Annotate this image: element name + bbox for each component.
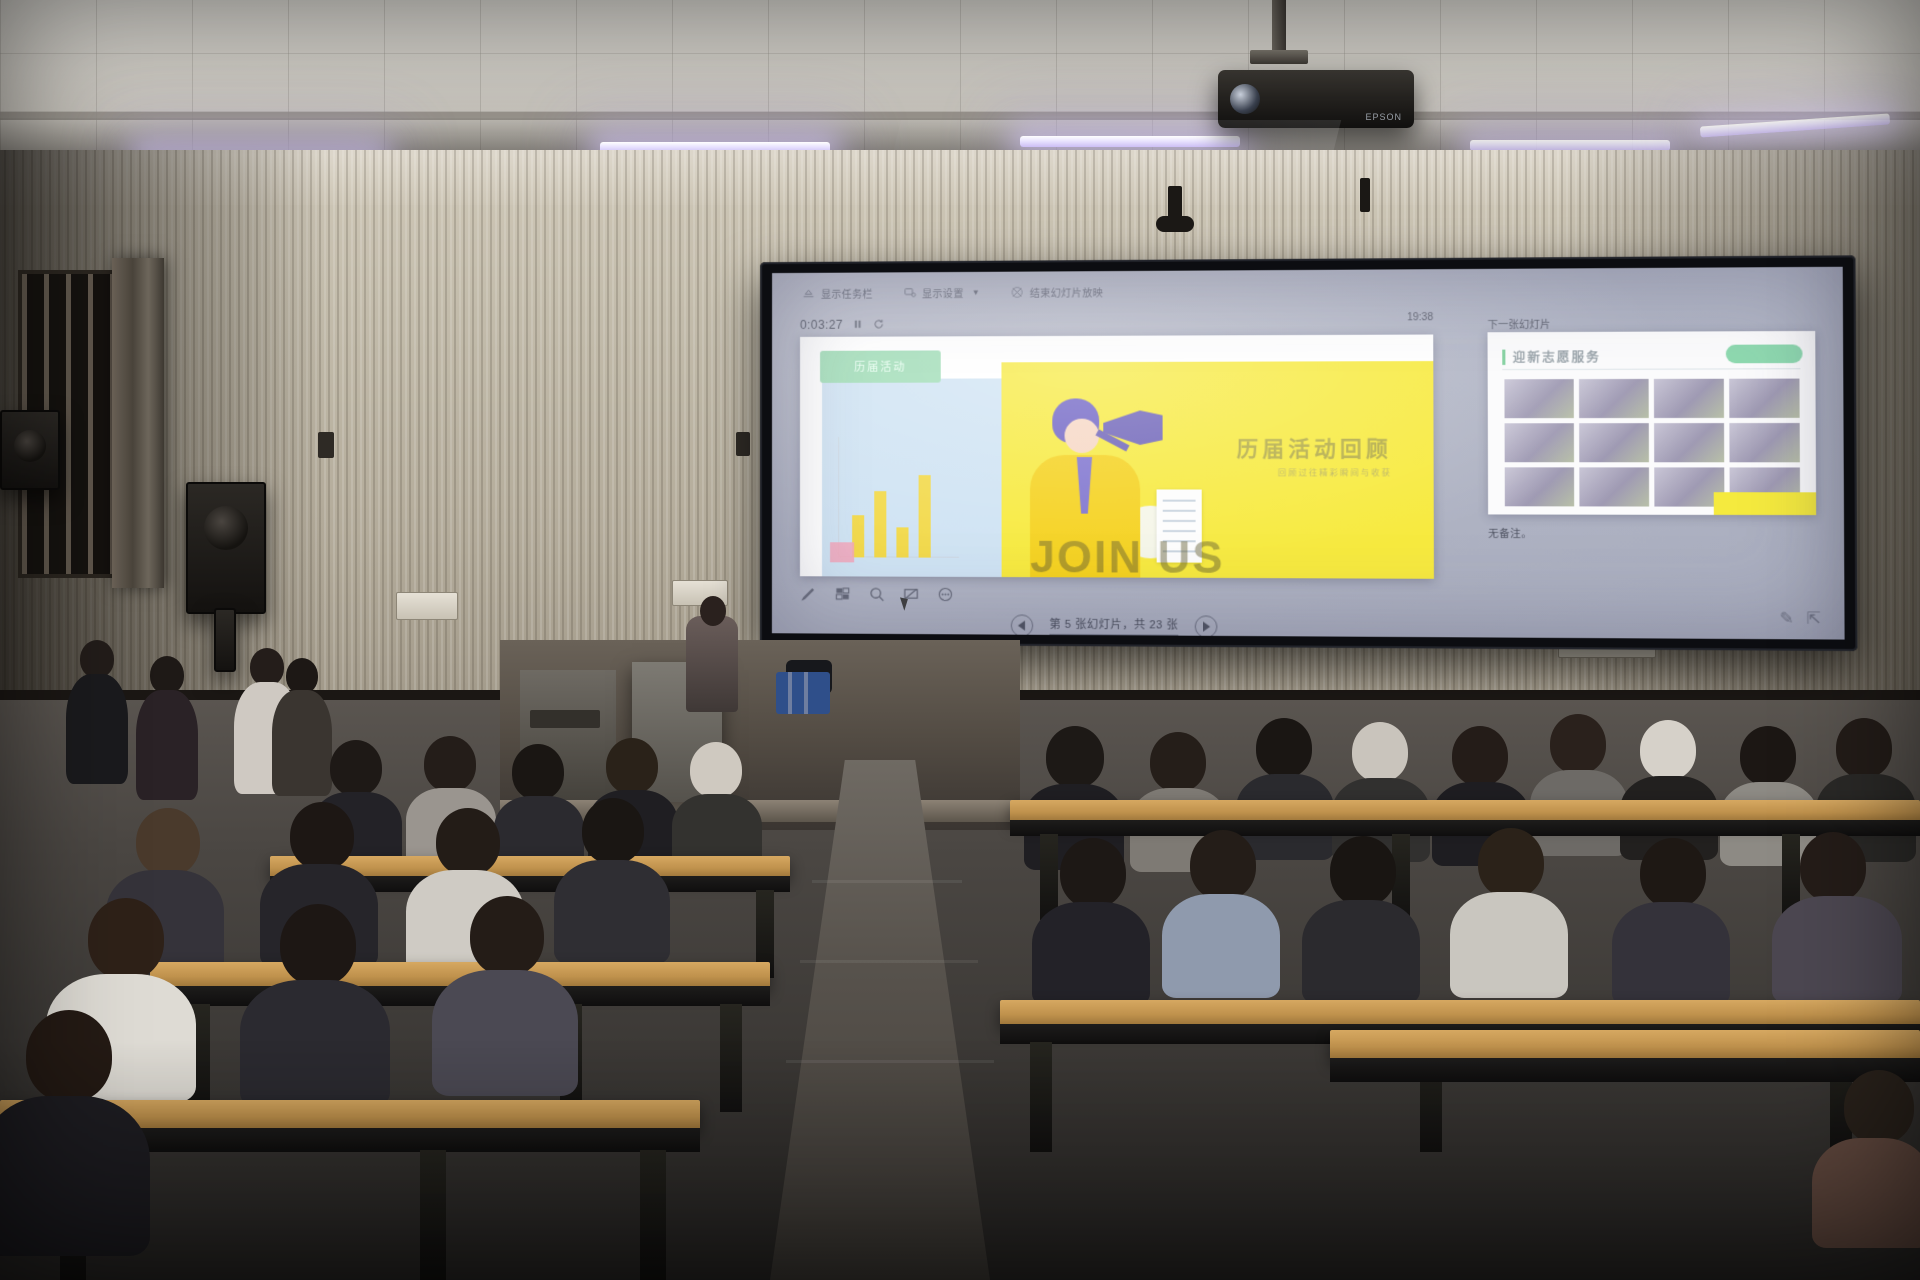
- desk-front: [1330, 1058, 1920, 1082]
- standing-person-head: [286, 658, 318, 694]
- audience-head: [436, 808, 500, 876]
- audience-head: [1478, 828, 1544, 898]
- cabinet-panel: [530, 710, 600, 728]
- audience-head: [424, 736, 476, 792]
- presenter-left-column: 0:03:27 19:38: [800, 312, 1433, 335]
- pause-icon[interactable]: [852, 319, 864, 331]
- next-slide-titlebar: 迎新志愿服务: [1502, 348, 1601, 366]
- doc-line: [1163, 500, 1196, 502]
- audience-body: [554, 860, 670, 964]
- audience-head: [1740, 726, 1796, 786]
- presentation-timer: 0:03:27: [800, 318, 843, 332]
- aisle-step: [800, 960, 978, 963]
- desk-row: [1010, 800, 1920, 822]
- slide-illustration-face: [1065, 419, 1100, 453]
- photo-thumb: [1579, 467, 1649, 506]
- audience-head: [1352, 722, 1408, 782]
- doc-line: [1163, 510, 1196, 512]
- standing-person-head: [250, 648, 284, 686]
- toolbar-end-show[interactable]: 结束幻灯片放映: [1010, 284, 1103, 300]
- audience-head: [1190, 830, 1256, 900]
- wall-clock-time: 19:38: [1407, 312, 1433, 323]
- slide-subtitle: 回顾过往精彩瞬间与收获: [1278, 467, 1392, 478]
- audience-body: [240, 980, 390, 1108]
- pen-icon[interactable]: [800, 585, 817, 602]
- chevron-left-icon: [1018, 621, 1025, 631]
- slide-pink-swatch: [830, 542, 854, 562]
- audience-head: [1256, 718, 1312, 778]
- photo-thumb: [1579, 423, 1649, 462]
- toolbar-display-settings[interactable]: 显示设置 ▼: [903, 284, 980, 299]
- toolbar-display-settings-label: 显示设置: [922, 285, 964, 300]
- next-slide-label: 下一张幻灯片: [1487, 316, 1550, 332]
- next-slide-button[interactable]: [1195, 615, 1218, 637]
- speaker-pole: [214, 608, 236, 672]
- presenter-toolbar: 显示任务栏 显示设置 ▼ 结束幻灯片放映: [772, 275, 1843, 305]
- audience-head: [582, 798, 644, 864]
- audience-body: [432, 970, 578, 1096]
- slide-badge-label: 历届活动: [854, 359, 906, 375]
- audience-head: [290, 802, 354, 870]
- audience-head: [280, 904, 356, 986]
- photo-thumb: [1504, 379, 1573, 418]
- audience-head: [1046, 726, 1104, 788]
- doc-line: [1163, 530, 1196, 532]
- projector-mount-arm: [1250, 50, 1308, 64]
- desk-leg: [720, 1004, 742, 1112]
- aisle-step: [786, 1060, 994, 1063]
- curtain: [112, 258, 164, 588]
- ceiling-lamp-3: [1020, 136, 1240, 147]
- slide-counter: 第 5 张幻灯片，共 23 张: [1049, 616, 1178, 637]
- wall-speaker-stand: [186, 482, 266, 614]
- projector: EPSON: [1218, 70, 1414, 128]
- toolbar-show-taskbar[interactable]: 显示任务栏: [802, 285, 873, 300]
- audience-head: [1640, 720, 1696, 780]
- resize-icon[interactable]: ⇱: [1807, 608, 1821, 629]
- audience-body: [1450, 892, 1568, 998]
- photo-thumb: [1579, 379, 1649, 418]
- desk-row: [1000, 1000, 1920, 1026]
- projector-lens: [1230, 84, 1260, 114]
- more-options-icon[interactable]: [937, 586, 954, 603]
- standing-person-head: [80, 640, 114, 678]
- camera-head: [1156, 216, 1194, 232]
- standing-person-body: [136, 690, 198, 800]
- next-slide-preview[interactable]: 迎新志愿服务: [1488, 331, 1817, 515]
- audience-head: [88, 898, 164, 980]
- presenter-notes: 无备注。: [1488, 525, 1532, 540]
- audience-head: [330, 740, 382, 796]
- audience-head: [1640, 838, 1706, 908]
- standing-person-head: [150, 656, 184, 694]
- audience-head: [1550, 714, 1606, 774]
- audience-head: [606, 738, 658, 794]
- photo-thumb: [1505, 467, 1574, 506]
- current-slide-preview[interactable]: 历届活动 历届活动回顾 回顾过往精彩瞬间与收获 JOIN US: [800, 335, 1434, 579]
- audience-body: [1302, 900, 1420, 1004]
- title-accent-bar: [1502, 350, 1505, 365]
- projector-mount-pole: [1272, 0, 1286, 56]
- audience-body: [1812, 1138, 1920, 1248]
- wall-speaker-left: [0, 410, 60, 490]
- timer-row: 0:03:27 19:38: [800, 312, 1433, 335]
- audience-body: [1612, 902, 1730, 1006]
- photo-thumb: [1654, 379, 1724, 418]
- projection-screen-bezel: 显示任务栏 显示设置 ▼ 结束幻灯片放映: [760, 255, 1858, 651]
- audience-body: [1162, 894, 1280, 998]
- next-slide-title: 迎新志愿服务: [1513, 348, 1601, 366]
- desk-leg: [420, 1150, 446, 1280]
- audience-head: [136, 808, 200, 876]
- photo-thumb: [1654, 423, 1724, 462]
- chart-bar: [874, 491, 886, 557]
- slide-chart-decoration: [838, 437, 959, 558]
- toolbar-end-show-label: 结束幻灯片放映: [1030, 284, 1103, 300]
- photo-thumb: [1729, 423, 1800, 462]
- next-slide-pill-badge: [1726, 344, 1803, 363]
- audience-body: [0, 1096, 150, 1256]
- slide-navigation: 第 5 张幻灯片，共 23 张: [800, 613, 1434, 639]
- audience-head: [26, 1010, 112, 1102]
- slide-wordmark: JOIN US: [1030, 533, 1225, 579]
- presenter-head: [700, 596, 726, 626]
- next-slide-yellow-accent: [1714, 492, 1816, 515]
- chart-bar: [896, 527, 908, 557]
- slide-badge: 历届活动: [820, 350, 941, 382]
- chevron-right-icon: [1202, 622, 1209, 632]
- speaker-cone-2: [204, 506, 248, 550]
- standing-person-body: [66, 674, 128, 784]
- toolbar-show-taskbar-label: 显示任务栏: [821, 285, 873, 300]
- photo-thumb: [1729, 379, 1799, 418]
- presenter-person: [686, 616, 738, 712]
- aisle-step: [812, 880, 962, 883]
- projection-screen[interactable]: 显示任务栏 显示设置 ▼ 结束幻灯片放映: [772, 267, 1845, 640]
- desk-leg: [640, 1150, 666, 1280]
- projector-brand-label: EPSON: [1365, 112, 1402, 122]
- speaker-cone: [14, 430, 46, 462]
- audience-head: [512, 744, 564, 800]
- chart-y-axis: [838, 437, 839, 557]
- presenter-tool-dock: [800, 585, 954, 603]
- next-slide-photo-grid: [1504, 379, 1801, 507]
- audience-head: [470, 896, 544, 976]
- taskbar-icon: [802, 286, 815, 299]
- audience-body: [1772, 896, 1902, 1004]
- audience-head: [1452, 726, 1508, 786]
- audience-head: [1800, 832, 1866, 902]
- audience-head: [1060, 838, 1126, 908]
- wall-plate-left: [396, 592, 458, 620]
- water-bottles: [776, 672, 830, 714]
- standing-person-body: [272, 690, 332, 796]
- photo-thumb: [1505, 423, 1574, 462]
- zoom-icon[interactable]: [868, 586, 885, 603]
- wall-sensor-mid: [736, 432, 750, 456]
- wall-sensor-left: [318, 432, 334, 458]
- pen-mark-icon[interactable]: ✎: [1779, 608, 1793, 629]
- audience-head: [1330, 836, 1396, 906]
- slides-grid-icon[interactable]: [834, 585, 851, 602]
- audience-head: [1836, 718, 1892, 778]
- audience-head: [690, 742, 742, 798]
- end-show-icon: [1010, 285, 1023, 298]
- chevron-down-icon: ▼: [972, 287, 980, 296]
- reset-icon[interactable]: [873, 319, 885, 331]
- desk-leg: [1030, 1042, 1052, 1152]
- audience-head: [1844, 1070, 1914, 1144]
- audience-body: [1032, 902, 1150, 1006]
- next-slide-rule: [1502, 368, 1800, 370]
- presenter-corner-controls: ✎ ⇱: [1779, 608, 1821, 629]
- slide-title: 历届活动回顾: [1237, 433, 1392, 464]
- doc-line: [1163, 520, 1196, 522]
- audience-head: [1150, 732, 1206, 792]
- wall-hook: [1360, 178, 1370, 212]
- prev-slide-button[interactable]: [1011, 614, 1033, 636]
- chart-bar: [919, 475, 931, 558]
- display-settings-icon: [903, 286, 916, 299]
- classroom-scene: EPSON 显示任务栏: [0, 0, 1920, 1280]
- desk-row: [1330, 1030, 1920, 1060]
